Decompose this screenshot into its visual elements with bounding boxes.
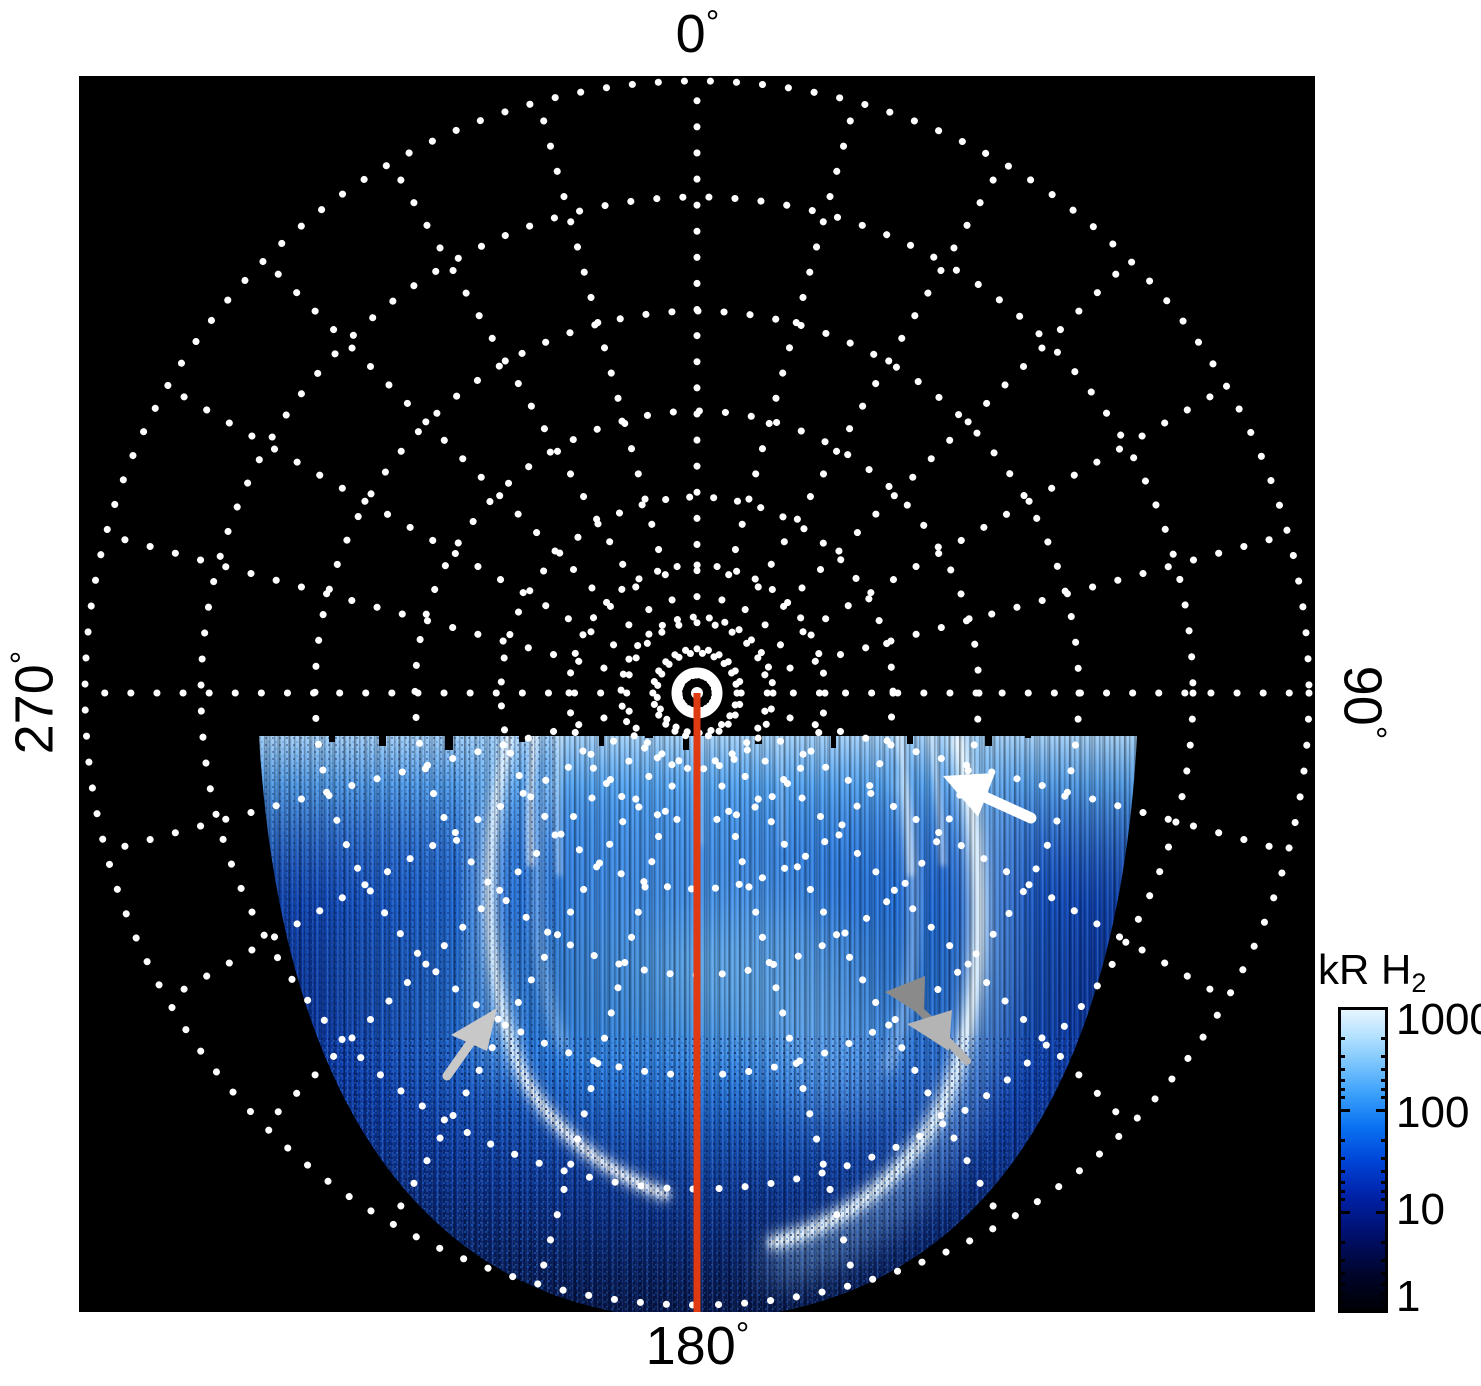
colorbar-tick-label-1: 1 [1396,1275,1420,1319]
angle-label-0: 0° [0,6,1395,61]
polar-plot-area [79,76,1315,1312]
angle-label-90: 90° [1336,603,1391,803]
colorbar-tick-label-100: 100 [1396,1091,1469,1135]
figure-canvas: 0° 180° 270° 90° [0,0,1481,1386]
angle-label-270: 270° [7,603,62,803]
colorbar-title: kR H2 [1318,946,1426,999]
colorbar-tick-label-10: 10 [1396,1188,1445,1232]
colorbar-ticks [1338,1007,1388,1313]
colorbar-tick-label-1000: 1000 [1396,998,1481,1042]
polar-plot-svg [79,76,1315,1312]
angle-label-180: 180° [0,1318,1395,1373]
